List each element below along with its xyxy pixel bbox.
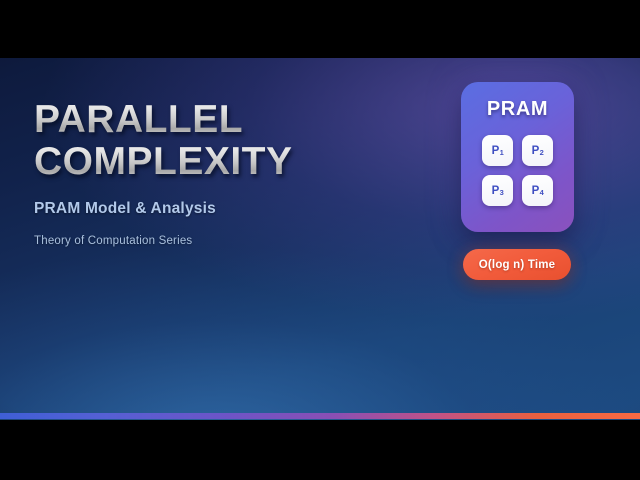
processor-tile-3: P3 <box>482 175 513 206</box>
processor-label-4: P <box>532 185 540 197</box>
pram-card: PRAM P1 P2 P3 P4 <box>461 82 574 232</box>
processor-label-1: P <box>492 145 500 157</box>
processor-index-2: 2 <box>540 148 544 157</box>
time-complexity-badge: O(log n) Time <box>463 249 571 280</box>
processor-tile-1: P1 <box>482 135 513 166</box>
processor-label-3: P <box>492 185 500 197</box>
page-title-line-1: PARALLEL <box>34 100 293 140</box>
processor-tile-2: P2 <box>522 135 553 166</box>
slide-stage: PARALLEL COMPLEXITY PRAM Model & Analysi… <box>0 0 640 480</box>
processor-index-3: 3 <box>500 188 504 197</box>
title-text-block: PARALLEL COMPLEXITY PRAM Model & Analysi… <box>34 100 293 247</box>
processor-label-2: P <box>532 145 540 157</box>
series-caption: Theory of Computation Series <box>34 235 293 247</box>
letterbox-top <box>0 0 640 58</box>
processor-index-4: 4 <box>540 188 544 197</box>
letterbox-bottom <box>0 420 640 480</box>
page-title-line-2: COMPLEXITY <box>34 142 293 182</box>
processor-grid: P1 P2 P3 P4 <box>482 135 553 206</box>
processor-index-1: 1 <box>500 148 504 157</box>
processor-tile-4: P4 <box>522 175 553 206</box>
subtitle: PRAM Model & Analysis <box>34 200 293 218</box>
bottom-accent-bar <box>0 413 640 419</box>
pram-card-title: PRAM <box>487 98 548 121</box>
